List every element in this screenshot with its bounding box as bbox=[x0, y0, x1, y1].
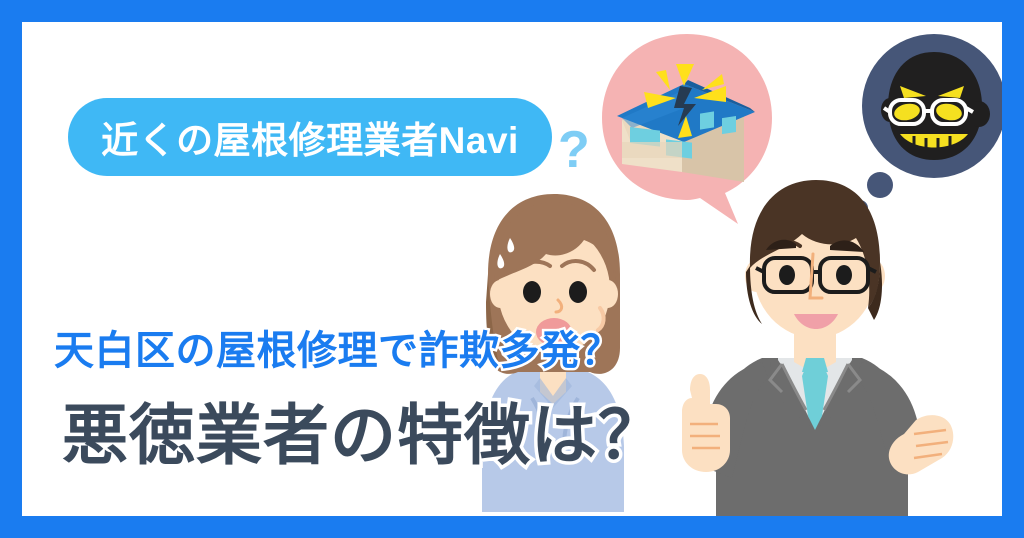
banner-content-area: 近くの屋根修理業者Navi ? 天白区の屋根修理で詐欺多発？ 悪徳業者の特徴は？ bbox=[22, 22, 1002, 516]
frame-border-top bbox=[0, 0, 1024, 22]
frame-border-bottom bbox=[0, 516, 1024, 538]
frame-border-right bbox=[1002, 0, 1024, 538]
headline-title: 悪徳業者の特徴は？ bbox=[62, 382, 665, 478]
headline-subtitle: 天白区の屋根修理で詐欺多発？ bbox=[54, 318, 621, 376]
site-name-badge-label: 近くの屋根修理業者Navi bbox=[101, 110, 519, 164]
question-mark-decoration: ? bbox=[558, 124, 590, 176]
site-name-badge[interactable]: 近くの屋根修理業者Navi bbox=[68, 98, 552, 176]
frame-border-left bbox=[0, 0, 22, 538]
suited-advisor-man-character bbox=[670, 162, 960, 516]
banner-canvas: 近くの屋根修理業者Navi ? 天白区の屋根修理で詐欺多発？ 悪徳業者の特徴は？ bbox=[0, 0, 1024, 538]
